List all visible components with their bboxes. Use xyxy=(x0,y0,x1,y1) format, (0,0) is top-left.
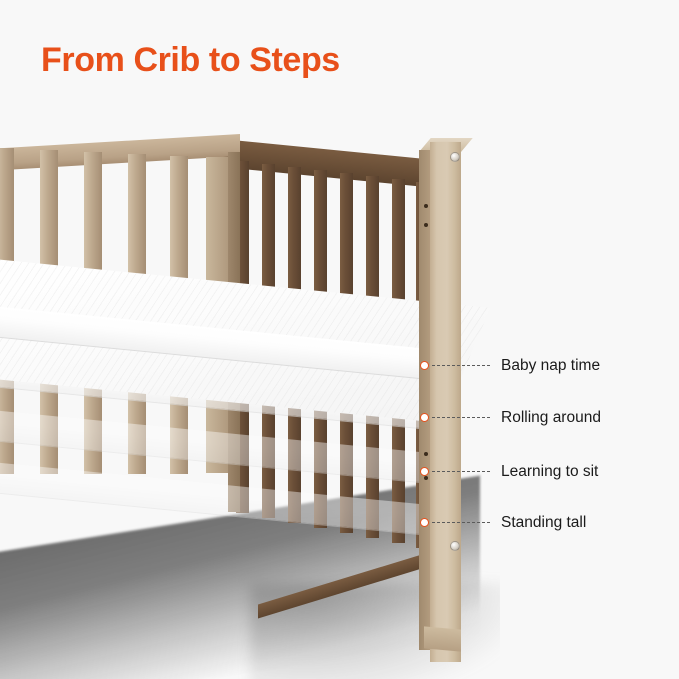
callout-label: Rolling around xyxy=(501,408,601,428)
crib-front-top-rail xyxy=(0,134,240,171)
post-peg-icon xyxy=(424,476,428,480)
callout-label: Standing tall xyxy=(501,513,586,533)
callout-marker-icon xyxy=(420,413,429,422)
page-title: From Crib to Steps xyxy=(41,38,340,82)
crib-photo xyxy=(0,128,500,679)
callout-leader-line xyxy=(432,365,490,366)
callout-label: Learning to sit xyxy=(501,462,598,482)
callout-leader-line xyxy=(432,471,490,472)
post-screw-icon xyxy=(450,541,460,551)
crib-back-top-rail xyxy=(222,139,442,189)
callout-label: Baby nap time xyxy=(501,356,600,376)
post-peg-icon xyxy=(424,452,428,456)
post-peg-icon xyxy=(424,223,428,227)
corner-post-foot xyxy=(424,626,461,651)
post-screw-icon xyxy=(450,152,460,162)
callout-leader-line xyxy=(432,417,490,418)
corner-post xyxy=(430,142,461,662)
post-peg-icon xyxy=(424,204,428,208)
callout-marker-icon xyxy=(420,361,429,370)
callout-marker-icon xyxy=(420,467,429,476)
product-infographic: From Crib to Steps xyxy=(0,0,679,679)
callout-leader-line xyxy=(432,522,490,523)
callout-marker-icon xyxy=(420,518,429,527)
